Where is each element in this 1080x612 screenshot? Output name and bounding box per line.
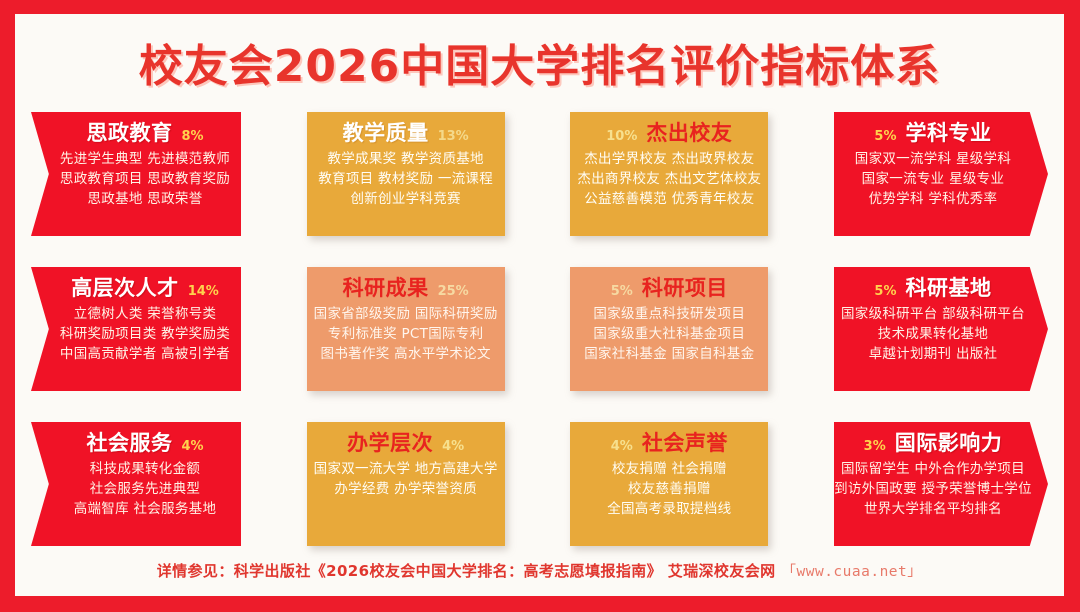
indicator-sub-item: 思政教育项目 思政教育奖励: [60, 171, 230, 188]
indicator-sub-item: 国家双一流大学 地方高建大学: [314, 461, 498, 478]
indicator-card-header: 教学质量13%: [315, 122, 497, 145]
indicator-sub-item: 立德树人类 荣誉称号类: [74, 306, 217, 323]
indicator-card[interactable]: 思政教育8%先进学生典型 先进模范教师思政教育项目 思政教育奖励思政基地 思政荣…: [31, 112, 241, 236]
indicator-card[interactable]: 教学质量13%教学成果奖 教学资质基地教育项目 教材奖励 一流课程创新创业学科竞…: [307, 112, 505, 236]
indicator-card[interactable]: 社会服务4%科技成果转化金额社会服务先进典型高端智库 社会服务基地: [31, 422, 241, 546]
indicator-weight-percent: 5%: [874, 284, 896, 299]
indicator-sub-item: 创新创业学科竞赛: [350, 191, 460, 208]
footer: 详情参见：科学出版社《2026校友会中国大学排名：高考志愿填报指南》 艾瑞深校友…: [15, 546, 1064, 596]
indicator-sub-item: 卓越计划期刊 出版社: [869, 346, 998, 363]
indicator-sub-item: 国家级重点科技研发项目: [593, 306, 745, 323]
indicator-sub-item: 杰出学界校友 杰出政界校友: [584, 151, 754, 168]
indicator-sub-item: 国际留学生 中外合作办学项目: [841, 461, 1025, 478]
indicator-card-header: 思政教育8%: [57, 122, 233, 145]
indicator-card-header: 科研成果25%: [315, 277, 497, 300]
indicator-card[interactable]: 办学层次4%国家双一流大学 地方高建大学办学经费 办学荣誉资质: [307, 422, 505, 546]
indicator-card-header: 高层次人才14%: [57, 277, 233, 300]
indicator-title: 社会声誉: [642, 432, 728, 455]
indicator-sub-items: 国家级科研平台 部级科研平台技术成果转化基地卓越计划期刊 出版社: [842, 306, 1024, 363]
indicator-row: 社会服务4%科技成果转化金额社会服务先进典型高端智库 社会服务基地办学层次4%国…: [31, 422, 1048, 546]
indicator-card-header: 办学层次4%: [315, 432, 497, 455]
indicator-sub-items: 立德树人类 荣誉称号类科研奖励项目类 教学奖励类中国高贡献学者 高被引学者: [57, 306, 233, 363]
indicator-sub-item: 办学经费 办学荣誉资质: [334, 481, 477, 498]
indicator-sub-item: 社会服务先进典型: [90, 481, 200, 498]
poster-root: 校友会2026中国大学排名评价指标体系 思政教育8%先进学生典型 先进模范教师思…: [0, 0, 1080, 612]
footer-source-text: 详情参见：科学出版社《2026校友会中国大学排名：高考志愿填报指南》 艾瑞深校友…: [157, 560, 776, 581]
indicator-title: 办学层次: [347, 432, 433, 455]
indicator-sub-items: 国际留学生 中外合作办学项目到访外国政要 授予荣誉博士学位世界大学排名平均排名: [842, 461, 1024, 518]
indicator-title: 科研成果: [343, 277, 429, 300]
indicator-sub-item: 国家一流专业 星级专业: [862, 171, 1005, 188]
indicator-weight-percent: 3%: [864, 439, 886, 454]
indicator-grid: 思政教育8%先进学生典型 先进模范教师思政教育项目 思政教育奖励思政基地 思政荣…: [15, 110, 1064, 546]
indicator-card[interactable]: 高层次人才14%立德树人类 荣誉称号类科研奖励项目类 教学奖励类中国高贡献学者 …: [31, 267, 241, 391]
indicator-sub-item: 教学成果奖 教学资质基地: [327, 151, 483, 168]
indicator-sub-item: 国家双一流学科 星级学科: [855, 151, 1011, 168]
indicator-weight-percent: 14%: [188, 284, 219, 299]
indicator-weight-percent: 4%: [442, 439, 464, 454]
indicator-card[interactable]: 3%国际影响力国际留学生 中外合作办学项目到访外国政要 授予荣誉博士学位世界大学…: [834, 422, 1048, 546]
indicator-sub-item: 先进学生典型 先进模范教师: [60, 151, 230, 168]
indicator-card[interactable]: 4%社会声誉校友捐赠 社会捐赠校友慈善捐赠全国高考录取提档线: [570, 422, 768, 546]
indicator-title: 高层次人才: [71, 277, 179, 300]
indicator-card-header: 社会服务4%: [57, 432, 233, 455]
indicator-sub-item: 校友慈善捐赠: [628, 481, 711, 498]
indicator-sub-items: 国家双一流大学 地方高建大学办学经费 办学荣誉资质: [315, 461, 497, 498]
indicator-sub-items: 教学成果奖 教学资质基地教育项目 教材奖励 一流课程创新创业学科竞赛: [315, 151, 497, 208]
indicator-card-header: 5%科研项目: [578, 277, 760, 300]
indicator-sub-items: 科技成果转化金额社会服务先进典型高端智库 社会服务基地: [57, 461, 233, 518]
indicator-card-header: 5%学科专业: [842, 122, 1024, 145]
indicator-sub-item: 到访外国政要 授予荣誉博士学位: [834, 481, 1032, 498]
indicator-sub-item: 教育项目 教材奖励 一流课程: [318, 171, 493, 188]
indicator-sub-items: 先进学生典型 先进模范教师思政教育项目 思政教育奖励思政基地 思政荣誉: [57, 151, 233, 208]
indicator-weight-percent: 8%: [181, 129, 203, 144]
indicator-card[interactable]: 5%学科专业国家双一流学科 星级学科国家一流专业 星级专业优势学科 学科优秀率: [834, 112, 1048, 236]
indicator-sub-items: 国家双一流学科 星级学科国家一流专业 星级专业优势学科 学科优秀率: [842, 151, 1024, 208]
indicator-sub-item: 校友捐赠 社会捐赠: [612, 461, 727, 478]
indicator-card[interactable]: 科研成果25%国家省部级奖励 国际科研奖励专利标准奖 PCT国际专利图书著作奖 …: [307, 267, 505, 391]
indicator-card[interactable]: 5%科研项目国家级重点科技研发项目国家级重大社科基金项目国家社科基金 国家自科基…: [570, 267, 768, 391]
indicator-card-header: 5%科研基地: [842, 277, 1024, 300]
indicator-sub-item: 专利标准奖 PCT国际专利: [328, 326, 484, 343]
indicator-title: 科研基地: [906, 277, 992, 300]
indicator-sub-item: 思政基地 思政荣誉: [88, 191, 203, 208]
indicator-card-header: 10%杰出校友: [578, 122, 760, 145]
indicator-card[interactable]: 10%杰出校友杰出学界校友 杰出政界校友杰出商界校友 杰出文艺体校友公益慈善模范…: [570, 112, 768, 236]
indicator-sub-item: 国家社科基金 国家自科基金: [584, 346, 754, 363]
indicator-sub-item: 科研奖励项目类 教学奖励类: [60, 326, 230, 343]
indicator-sub-items: 国家级重点科技研发项目国家级重大社科基金项目国家社科基金 国家自科基金: [578, 306, 760, 363]
indicator-row: 高层次人才14%立德树人类 荣誉称号类科研奖励项目类 教学奖励类中国高贡献学者 …: [31, 267, 1048, 391]
indicator-sub-item: 优势学科 学科优秀率: [869, 191, 998, 208]
indicator-sub-items: 杰出学界校友 杰出政界校友杰出商界校友 杰出文艺体校友公益慈善模范 优秀青年校友: [578, 151, 760, 208]
indicator-sub-item: 世界大学排名平均排名: [864, 501, 1002, 518]
title-bar: 校友会2026中国大学排名评价指标体系: [15, 14, 1064, 110]
indicator-sub-item: 公益慈善模范 优秀青年校友: [584, 191, 754, 208]
footer-website-link[interactable]: 「www.cuaa.net」: [782, 560, 923, 581]
indicator-sub-item: 图书著作奖 高水平学术论文: [321, 346, 491, 363]
indicator-title: 学科专业: [906, 122, 992, 145]
indicator-row: 思政教育8%先进学生典型 先进模范教师思政教育项目 思政教育奖励思政基地 思政荣…: [31, 112, 1048, 236]
indicator-sub-item: 国家级重大社科基金项目: [593, 326, 745, 343]
page-title: 校友会2026中国大学排名评价指标体系: [139, 30, 940, 94]
indicator-sub-item: 全国高考录取提档线: [607, 501, 731, 518]
indicator-card[interactable]: 5%科研基地国家级科研平台 部级科研平台技术成果转化基地卓越计划期刊 出版社: [834, 267, 1048, 391]
indicator-title: 教学质量: [343, 122, 429, 145]
indicator-sub-item: 技术成果转化基地: [878, 326, 988, 343]
indicator-weight-percent: 5%: [874, 129, 896, 144]
indicator-title: 思政教育: [86, 122, 172, 145]
indicator-title: 杰出校友: [646, 122, 732, 145]
indicator-title: 国际影响力: [895, 432, 1003, 455]
indicator-sub-item: 高端智库 社会服务基地: [74, 501, 217, 518]
indicator-sub-item: 中国高贡献学者 高被引学者: [60, 346, 230, 363]
indicator-sub-item: 国家省部级奖励 国际科研奖励: [314, 306, 498, 323]
indicator-weight-percent: 25%: [438, 284, 469, 299]
indicator-sub-item: 杰出商界校友 杰出文艺体校友: [577, 171, 761, 188]
indicator-title: 社会服务: [86, 432, 172, 455]
indicator-weight-percent: 5%: [611, 284, 633, 299]
indicator-title: 科研项目: [642, 277, 728, 300]
indicator-sub-items: 校友捐赠 社会捐赠校友慈善捐赠全国高考录取提档线: [578, 461, 760, 518]
indicator-card-header: 3%国际影响力: [842, 432, 1024, 455]
indicator-card-header: 4%社会声誉: [578, 432, 760, 455]
indicator-sub-items: 国家省部级奖励 国际科研奖励专利标准奖 PCT国际专利图书著作奖 高水平学术论文: [315, 306, 497, 363]
indicator-weight-percent: 13%: [438, 129, 469, 144]
poster-inner: 校友会2026中国大学排名评价指标体系 思政教育8%先进学生典型 先进模范教师思…: [15, 14, 1064, 596]
indicator-weight-percent: 4%: [181, 439, 203, 454]
indicator-sub-item: 国家级科研平台 部级科研平台: [841, 306, 1025, 323]
indicator-weight-percent: 4%: [611, 439, 633, 454]
indicator-weight-percent: 10%: [606, 129, 637, 144]
indicator-sub-item: 科技成果转化金额: [90, 461, 200, 478]
